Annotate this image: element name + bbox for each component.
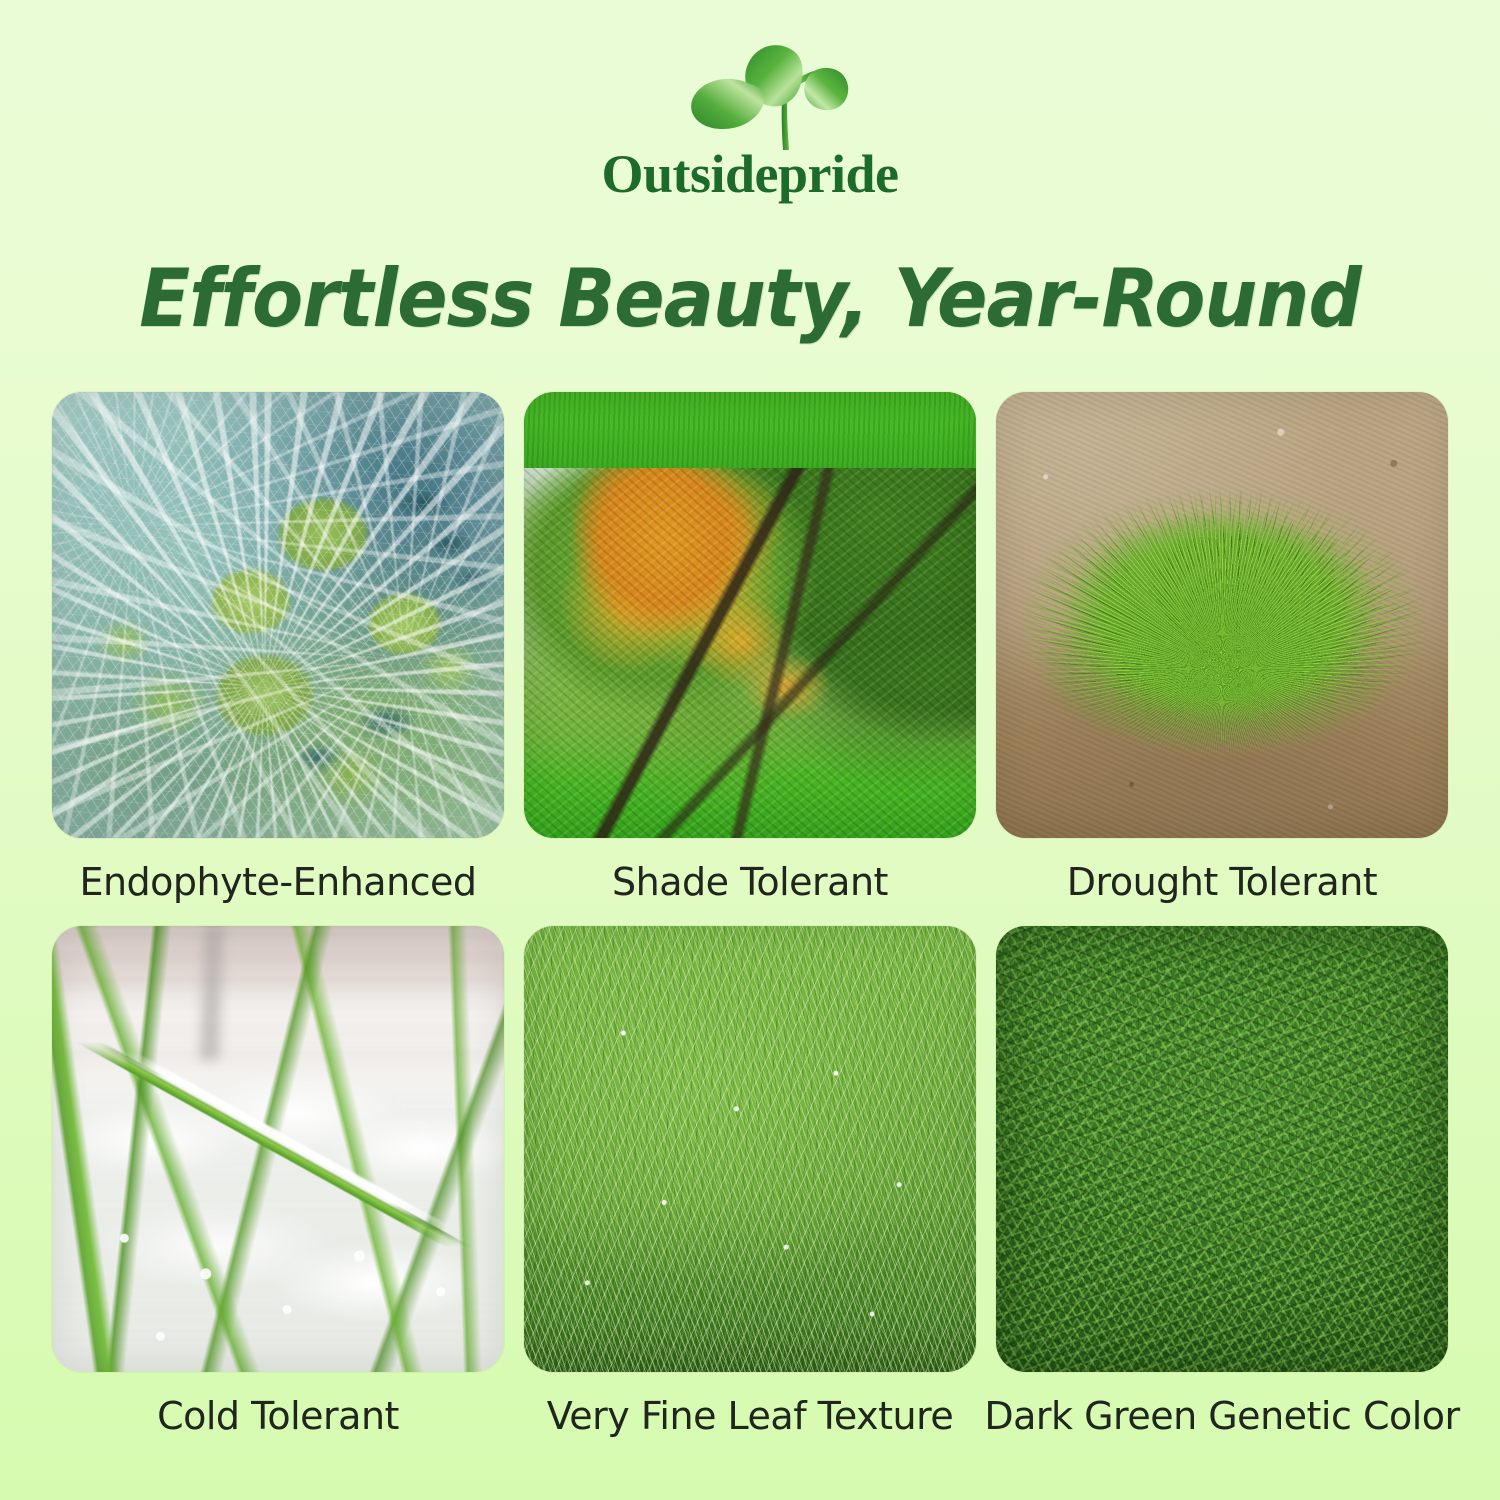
dark-green-turf-photo bbox=[996, 926, 1448, 1372]
feature-caption: Drought Tolerant bbox=[1067, 860, 1377, 904]
endophyte-micrograph-photo bbox=[52, 392, 504, 838]
feature-grid: Endophyte-Enhanced Shade Tolerant Drough… bbox=[52, 392, 1448, 1438]
feature-card-cold-tolerant: Cold Tolerant bbox=[52, 926, 504, 1438]
feature-card-dark-green-genetic-color: Dark Green Genetic Color bbox=[996, 926, 1448, 1438]
shade-tree-lawn-photo bbox=[524, 392, 976, 838]
fescue-clump-dry-soil-photo bbox=[996, 392, 1448, 838]
sprout-leaves-icon bbox=[680, 30, 860, 155]
page-title: Effortless Beauty, Year-Round bbox=[53, 252, 1448, 345]
feature-caption: Cold Tolerant bbox=[157, 1394, 399, 1438]
feature-caption: Shade Tolerant bbox=[612, 860, 888, 904]
feature-card-shade-tolerant: Shade Tolerant bbox=[524, 392, 976, 904]
feature-caption: Endophyte-Enhanced bbox=[79, 860, 476, 904]
feature-caption: Very Fine Leaf Texture bbox=[547, 1394, 954, 1438]
feature-card-very-fine-leaf-texture: Very Fine Leaf Texture bbox=[524, 926, 976, 1438]
brand-logo-block: Outsidepride bbox=[0, 30, 1500, 205]
fine-leaf-grass-photo bbox=[524, 926, 976, 1372]
feature-card-drought-tolerant: Drought Tolerant bbox=[996, 392, 1448, 904]
feature-caption: Dark Green Genetic Color bbox=[984, 1394, 1459, 1438]
snow-covered-grass-photo bbox=[52, 926, 504, 1372]
feature-card-endophyte-enhanced: Endophyte-Enhanced bbox=[52, 392, 504, 904]
